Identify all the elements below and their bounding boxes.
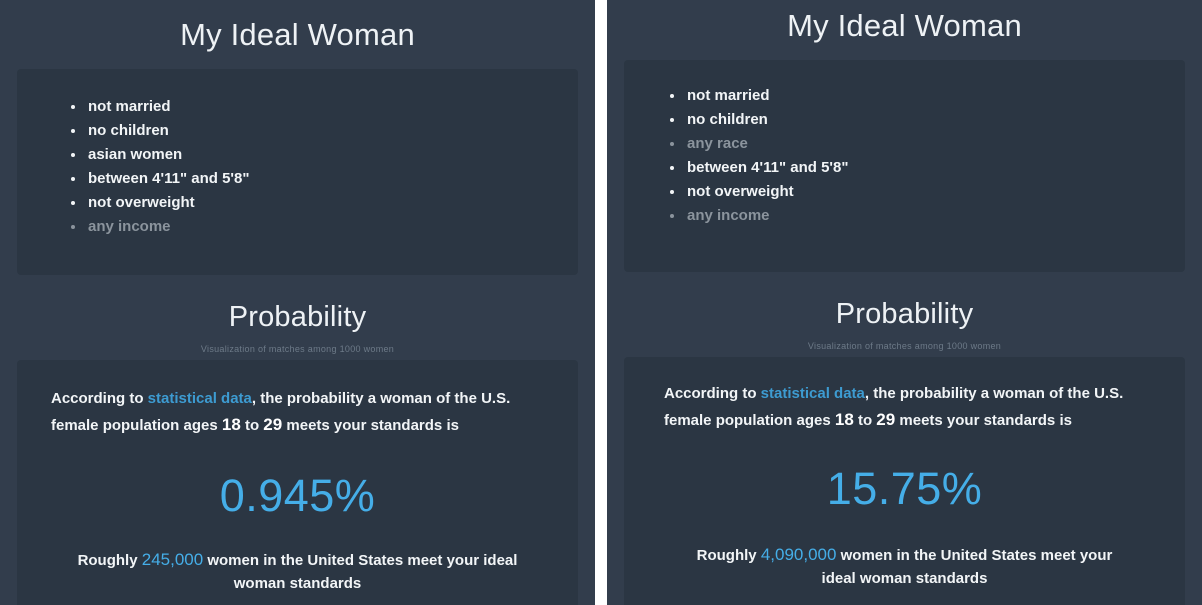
- criteria-item-height[interactable]: between 4'11" and 5'8": [670, 156, 1185, 180]
- criteria-label: any race: [687, 135, 748, 152]
- criteria-label: between 4'11" and 5'8": [88, 170, 249, 187]
- criteria-item-children[interactable]: no children: [670, 108, 1185, 132]
- footer-tail: women in the United States meet your ide…: [203, 552, 517, 592]
- panel-right-content: My Ideal Woman not married no children a…: [607, 0, 1202, 605]
- sentence-to: to: [854, 412, 877, 429]
- matching-women-count: 4,090,000: [761, 545, 837, 564]
- probability-footer: Roughly 4,090,000 women in the United St…: [624, 543, 1185, 596]
- comparison-screenshot: My Ideal Woman not married no children a…: [0, 0, 1202, 605]
- panel-left: My Ideal Woman not married no children a…: [0, 0, 595, 605]
- criteria-item-income[interactable]: any income: [71, 215, 578, 239]
- criteria-list: not married no children asian women betw…: [71, 95, 578, 239]
- criteria-label: any income: [88, 218, 171, 235]
- sentence-lead: According to: [664, 385, 761, 402]
- criteria-item-height[interactable]: between 4'11" and 5'8": [71, 167, 578, 191]
- sentence-tail: meets your standards is: [282, 417, 459, 434]
- criteria-card: not married no children any race between…: [624, 60, 1185, 272]
- criteria-item-marital[interactable]: not married: [670, 84, 1185, 108]
- age-high: 29: [263, 415, 282, 434]
- probability-sentence: According to statistical data, the proba…: [624, 361, 1185, 434]
- sentence-tail: meets your standards is: [895, 412, 1072, 429]
- age-low: 18: [835, 410, 854, 429]
- criteria-list: not married no children any race between…: [670, 84, 1185, 228]
- criteria-label: no children: [687, 111, 768, 128]
- criteria-label: not overweight: [88, 194, 195, 211]
- sentence-to: to: [241, 417, 264, 434]
- criteria-label: any income: [687, 207, 770, 224]
- matching-women-count: 245,000: [142, 550, 203, 569]
- panel-right: My Ideal Woman not married no children a…: [607, 0, 1202, 605]
- criteria-label: not married: [88, 98, 171, 115]
- age-high: 29: [876, 410, 895, 429]
- probability-value: 0.945%: [17, 439, 578, 548]
- footer-tail: women in the United States meet your ide…: [822, 547, 1113, 587]
- criteria-item-marital[interactable]: not married: [71, 95, 578, 119]
- criteria-item-children[interactable]: no children: [71, 119, 578, 143]
- age-low: 18: [222, 415, 241, 434]
- criteria-label: not overweight: [687, 183, 794, 200]
- criteria-item-race[interactable]: any race: [670, 132, 1185, 156]
- probability-heading: Probability: [0, 275, 595, 338]
- criteria-label: between 4'11" and 5'8": [687, 159, 848, 176]
- criteria-item-race[interactable]: asian women: [71, 143, 578, 167]
- page-title: My Ideal Woman: [607, 0, 1202, 60]
- criteria-item-weight[interactable]: not overweight: [670, 180, 1185, 204]
- page-title: My Ideal Woman: [0, 0, 595, 69]
- statistical-data-link[interactable]: statistical data: [761, 385, 865, 402]
- footer-lead: Roughly: [78, 552, 142, 569]
- criteria-label: asian women: [88, 146, 182, 163]
- probability-sentence: According to statistical data, the proba…: [17, 364, 578, 439]
- panel-left-content: My Ideal Woman not married no children a…: [0, 0, 595, 605]
- criteria-label: no children: [88, 122, 169, 139]
- probability-value: 15.75%: [624, 434, 1185, 543]
- criteria-item-income[interactable]: any income: [670, 204, 1185, 228]
- criteria-item-weight[interactable]: not overweight: [71, 191, 578, 215]
- probability-footer: Roughly 245,000 women in the United Stat…: [17, 548, 578, 601]
- statistical-data-link[interactable]: statistical data: [148, 390, 252, 407]
- probability-card: According to statistical data, the proba…: [624, 357, 1185, 605]
- probability-card: According to statistical data, the proba…: [17, 360, 578, 605]
- sentence-lead: According to: [51, 390, 148, 407]
- criteria-label: not married: [687, 87, 770, 104]
- panel-divider: [595, 0, 607, 605]
- footer-lead: Roughly: [697, 547, 761, 564]
- criteria-card: not married no children asian women betw…: [17, 69, 578, 275]
- probability-caption: Visualization of matches among 1000 wome…: [0, 344, 595, 360]
- probability-caption: Visualization of matches among 1000 wome…: [607, 341, 1202, 357]
- probability-heading: Probability: [607, 272, 1202, 335]
